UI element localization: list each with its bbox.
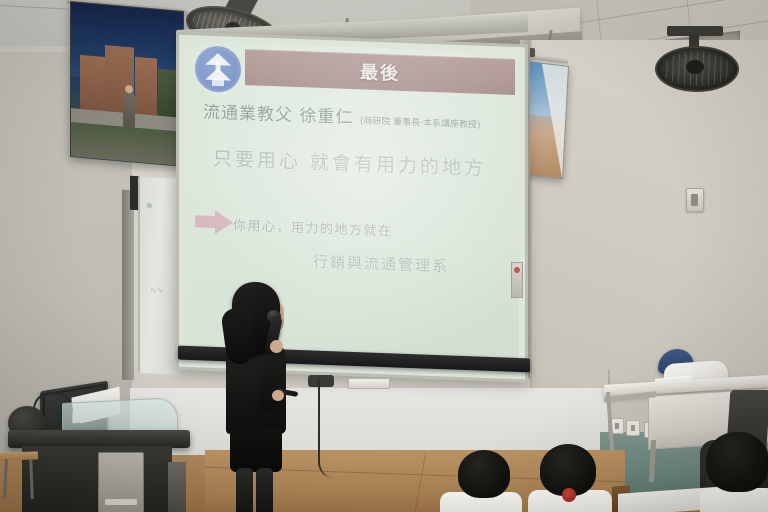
slide-speaker-line: 流通業教父 徐重仁 (商研院 董事長‧本系講座教授)	[203, 98, 481, 133]
student-right	[700, 432, 768, 512]
fan-hub	[686, 60, 704, 74]
campus-photo-banner-left	[70, 1, 184, 167]
lectern	[22, 446, 172, 512]
red-hair-tie	[562, 488, 576, 502]
slide-speaker-name: 流通業教父 徐重仁	[203, 103, 353, 129]
banner-tree	[158, 68, 176, 119]
slide-bullet-line: 你用心，用力的地方就在	[233, 215, 393, 240]
slide-quote-line: 只要用心 就會有用力的地方	[213, 144, 486, 181]
wall-recess	[122, 190, 134, 381]
lectern-shelf	[168, 462, 186, 512]
presenter-hand	[270, 340, 283, 353]
student-head	[458, 450, 510, 498]
department-logo-icon	[195, 45, 241, 93]
ceiling-fan-right	[655, 26, 735, 92]
slide-department-line: 行銷與流通管理系	[313, 251, 449, 277]
wall-switch-panel[interactable]	[511, 262, 523, 298]
banner-person	[123, 93, 135, 128]
logo-base-icon	[212, 78, 224, 86]
presenter-hand	[272, 390, 284, 401]
wall-jack-plate	[348, 378, 390, 389]
presenter	[214, 282, 294, 512]
slide-title: 最後	[360, 58, 400, 85]
slide-speaker-note: (商研院 董事長‧本系講座教授)	[360, 116, 481, 130]
arrow-shaft	[195, 215, 217, 228]
hanging-av-cable	[318, 378, 334, 478]
banner-building	[80, 55, 105, 113]
classroom-photo: ✽ ∿∿ 最後 流通業教父 徐重仁 (商研院 董事長‧本系講座教授)	[0, 0, 768, 512]
arrow-head	[215, 210, 233, 235]
whiteboard-marking: ✽	[146, 201, 153, 210]
whiteboard-marking: ∿∿	[150, 286, 164, 295]
presenter-leg	[256, 468, 273, 512]
banner-curl	[536, 64, 568, 178]
presenter-leg	[236, 468, 253, 512]
arrow-right-icon	[195, 209, 235, 234]
slide-title-bar: 最後	[245, 49, 515, 95]
desktop-computer[interactable]	[98, 452, 144, 512]
banner-building	[135, 57, 157, 117]
student-left	[440, 450, 522, 512]
power-outlet[interactable]	[626, 420, 640, 436]
presenter-skirt	[230, 428, 282, 472]
student-head	[706, 432, 768, 492]
wall-mounted-device[interactable]	[686, 188, 704, 212]
